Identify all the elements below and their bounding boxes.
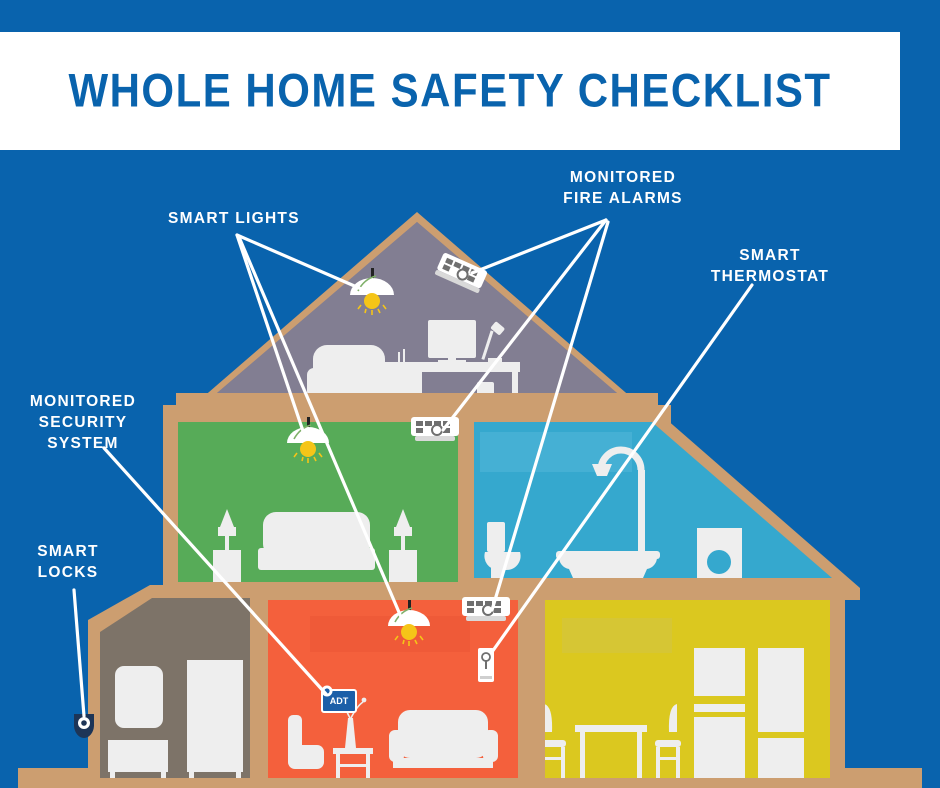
garage-appliance-right	[187, 660, 243, 780]
sofa	[389, 710, 498, 768]
callout-label-smart-locks: SMART LOCKS	[18, 541, 118, 583]
page-title: WHOLE HOME SAFETY CHECKLIST	[68, 64, 831, 118]
washing-machine	[697, 528, 742, 586]
garage-contents	[100, 598, 250, 780]
callout-label-smart-thermostat: SMART THERMOSTAT	[700, 245, 840, 287]
callout-label-monitored-fire-alarms: MONITORED FIRE ALARMS	[548, 167, 698, 209]
security-panel-icon[interactable]: ADT	[322, 686, 357, 713]
callout-label-monitored-security-system: MONITORED SECURITY SYSTEM	[18, 391, 148, 454]
thermostat-icon[interactable]	[478, 648, 494, 682]
smoke-alarm-icon[interactable]	[411, 417, 459, 441]
kitchen-contents	[540, 600, 830, 778]
header-banner: WHOLE HOME SAFETY CHECKLIST	[0, 32, 900, 150]
security-panel-label: ADT	[330, 696, 349, 706]
living-room-contents	[268, 600, 518, 780]
callout-label-smart-lights: SMART LIGHTS	[168, 208, 300, 229]
infographic-canvas: ADT	[0, 0, 940, 788]
monitor	[428, 320, 476, 364]
kitchen-wall-accent	[562, 618, 672, 653]
room-attic-office	[217, 222, 617, 408]
smoke-alarm-icon[interactable]	[462, 597, 510, 621]
bed	[258, 512, 375, 570]
refrigerator	[758, 648, 804, 778]
armchair	[307, 345, 391, 398]
garage-appliance-left	[108, 666, 168, 780]
